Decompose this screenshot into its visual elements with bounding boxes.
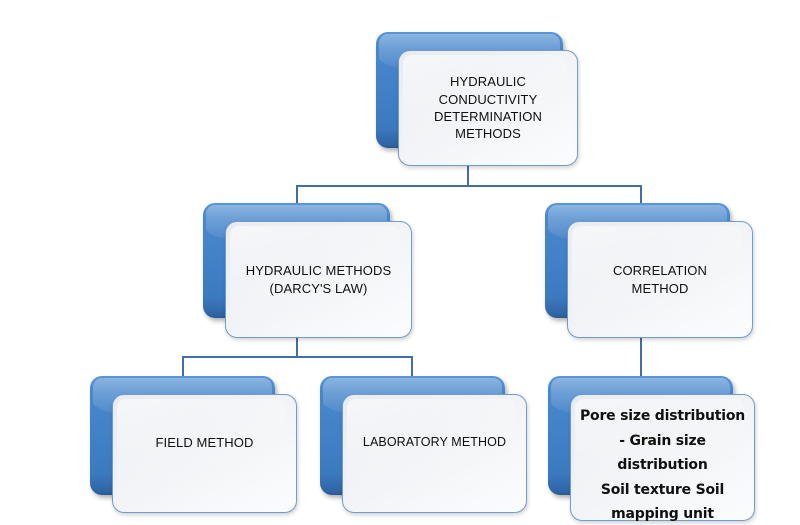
node-hydraulic-methods-card[interactable]: HYDRAULIC METHODS (DARCY'S LAW) [225, 221, 412, 338]
edge-hydraulic-to-field-method [182, 356, 184, 377]
edge-root-stem [467, 166, 469, 187]
node-laboratory-method[interactable]: LABORATORY METHOD [320, 376, 527, 513]
edge-level2-bus [182, 356, 413, 358]
edge-level1-bus [296, 185, 642, 187]
node-correlation-inputs-label: Pore size distribution - Grain size dist… [571, 404, 754, 525]
node-correlation-method[interactable]: CORRELATION METHOD [545, 203, 753, 338]
node-field-method[interactable]: FIELD METHOD [90, 376, 297, 513]
node-root-label: HYDRAULIC CONDUCTIVITY DETERMINATION MET… [426, 73, 550, 143]
node-correlation-inputs[interactable]: Pore size distribution - Grain size dist… [548, 376, 755, 521]
node-hydraulic-methods[interactable]: HYDRAULIC METHODS (DARCY'S LAW) [203, 203, 412, 338]
node-correlation-method-card[interactable]: CORRELATION METHOD [567, 221, 753, 338]
node-hydraulic-methods-label: HYDRAULIC METHODS (DARCY'S LAW) [238, 262, 399, 297]
node-root[interactable]: HYDRAULIC CONDUCTIVITY DETERMINATION MET… [376, 32, 578, 166]
node-laboratory-method-card[interactable]: LABORATORY METHOD [342, 394, 527, 513]
node-correlation-inputs-card[interactable]: Pore size distribution - Grain size dist… [570, 394, 755, 521]
node-correlation-method-label: CORRELATION METHOD [605, 262, 715, 297]
node-root-card[interactable]: HYDRAULIC CONDUCTIVITY DETERMINATION MET… [398, 50, 578, 166]
node-field-method-card[interactable]: FIELD METHOD [112, 394, 297, 513]
node-laboratory-method-label: LABORATORY METHOD [355, 434, 514, 451]
edge-hydraulic-to-laboratory-method [411, 356, 413, 377]
node-field-method-label: FIELD METHOD [148, 434, 262, 451]
edge-correlation-to-inputs [640, 338, 642, 377]
edge-hydraulic-methods-stem [296, 338, 298, 358]
flowchart-canvas: HYDRAULIC CONDUCTIVITY DETERMINATION MET… [0, 0, 800, 525]
